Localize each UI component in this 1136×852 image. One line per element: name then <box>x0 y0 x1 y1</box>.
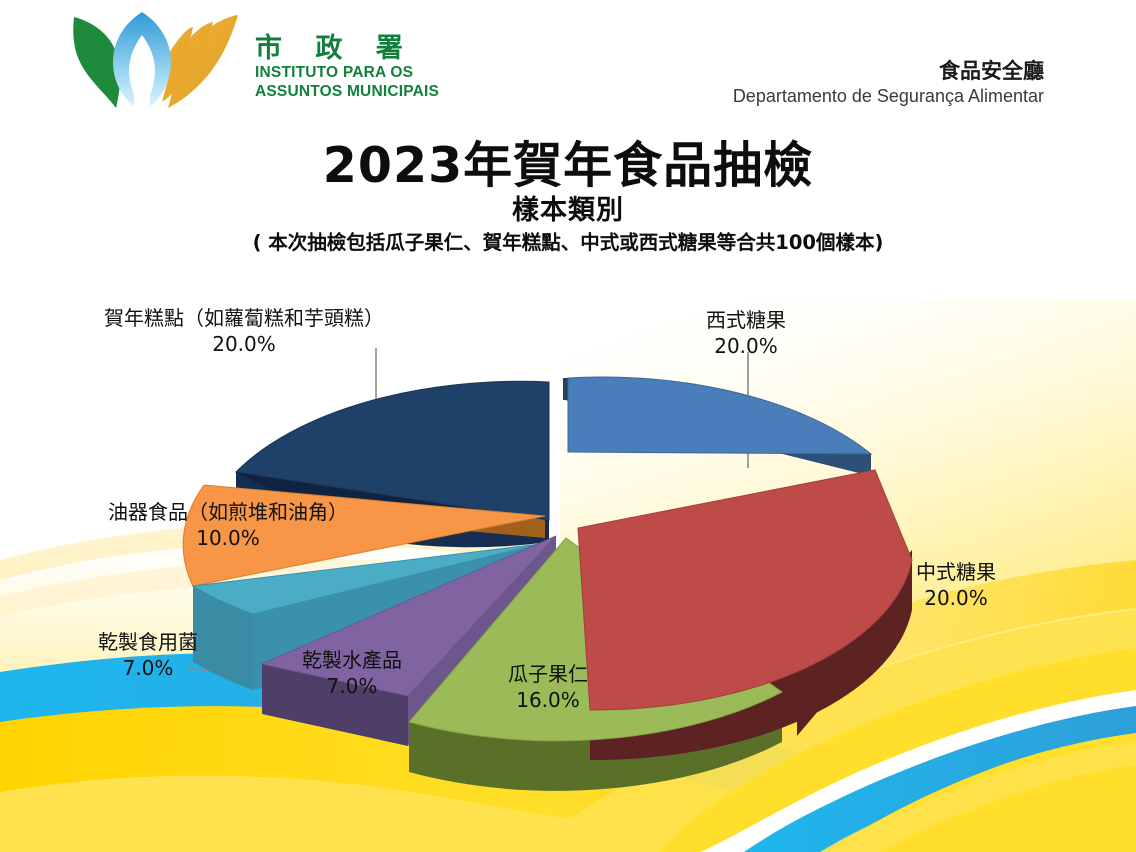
pie-label-cake: 賀年糕點（如蘿蔔糕和芋頭糕） 20.0% <box>104 306 384 357</box>
pie-label-fried-food: 油器食品（如煎堆和油角） 10.0% <box>108 500 348 551</box>
pie-chart <box>0 0 1136 852</box>
pie-label-chinese-candy: 中式糖果 20.0% <box>916 560 996 611</box>
pie-label-dried-fungi-pct: 7.0% <box>98 656 198 682</box>
pie-label-seeds-nuts: 瓜子果仁 16.0% <box>508 662 588 713</box>
pie-label-seeds-nuts-name: 瓜子果仁 <box>508 662 588 688</box>
slice-top-west-candy-face <box>568 377 871 454</box>
pie-label-western-candy-name: 西式糖果 <box>706 308 786 334</box>
slide-canvas: 市 政 署 INSTITUTO PARA OS ASSUNTOS MUNICIP… <box>0 0 1136 852</box>
pie-label-dried-seafood-pct: 7.0% <box>302 674 402 700</box>
pie-label-cake-pct: 20.0% <box>104 332 384 358</box>
pie-label-chinese-candy-pct: 20.0% <box>916 586 996 612</box>
pie-label-cake-name: 賀年糕點（如蘿蔔糕和芋頭糕） <box>104 306 384 332</box>
pie-label-dried-fungi-name: 乾製食用菌 <box>98 630 198 656</box>
pie-label-chinese-candy-name: 中式糖果 <box>916 560 996 586</box>
pie-label-seeds-nuts-pct: 16.0% <box>508 688 588 714</box>
pie-label-dried-seafood: 乾製水產品 7.0% <box>302 648 402 699</box>
pie-label-fried-food-pct: 10.0% <box>108 526 348 552</box>
pie-label-western-candy-pct: 20.0% <box>706 334 786 360</box>
pie-label-dried-seafood-name: 乾製水產品 <box>302 648 402 674</box>
pie-label-dried-fungi: 乾製食用菌 7.0% <box>98 630 198 681</box>
pie-label-fried-food-name: 油器食品（如煎堆和油角） <box>108 500 348 526</box>
pie-label-western-candy: 西式糖果 20.0% <box>706 308 786 359</box>
